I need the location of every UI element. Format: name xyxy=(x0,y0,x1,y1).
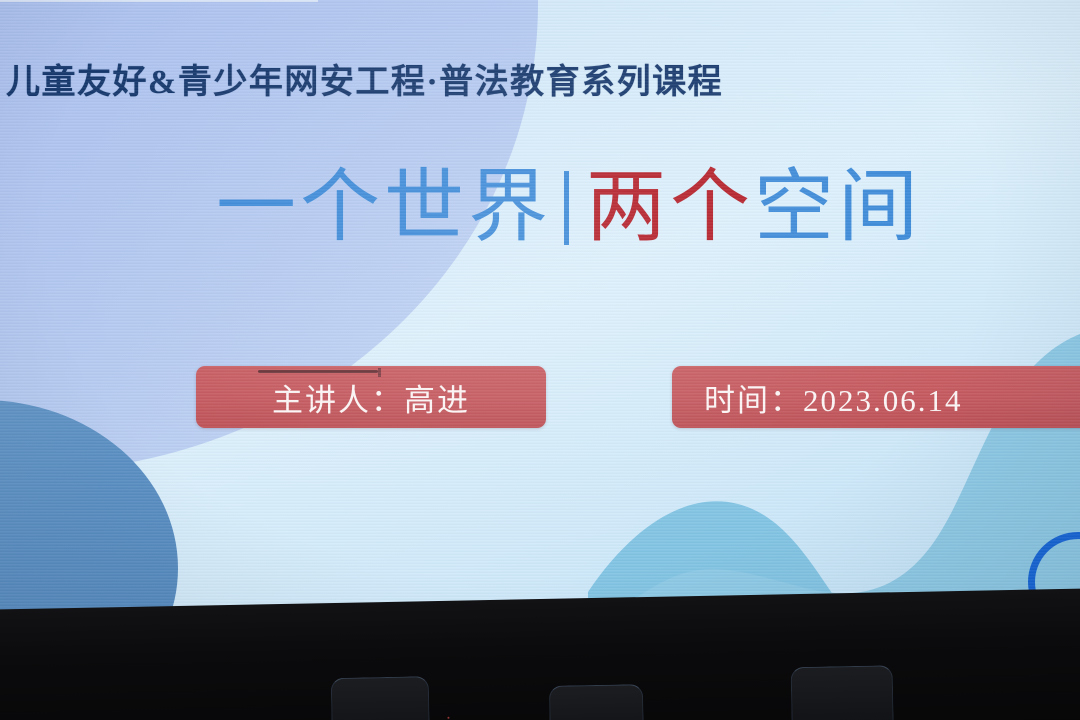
main-title-highlight: 两个 xyxy=(586,168,754,248)
speaker-badge: 主讲人：高进 xyxy=(196,366,546,428)
title-divider-bar xyxy=(564,171,569,245)
date-badge: 时间：2023.06.14 xyxy=(672,366,1080,428)
badge-streak-artifact xyxy=(258,370,378,373)
law-firm-banner: ZHEJIANG GUANGZHENGDA LAW FIRM xyxy=(0,0,318,2)
chair-silhouette-3 xyxy=(791,665,895,720)
slide-canvas: ZHEJIANG GUANGZHENGDA LAW FIRM 儿童友好&青少年网… xyxy=(0,0,1080,642)
dark-room-foreground xyxy=(0,590,1080,720)
projection-screen: ZHEJIANG GUANGZHENGDA LAW FIRM 儿童友好&青少年网… xyxy=(0,0,1080,642)
main-title: 一个世界 两个 空间 xyxy=(216,168,922,248)
course-series-subtitle: 儿童友好&青少年网安工程·普法教育系列课程 xyxy=(6,54,723,103)
badge-streak-artifact-2 xyxy=(378,368,381,377)
chair-silhouette-2 xyxy=(549,684,644,720)
photo-of-projected-slide: ZHEJIANG GUANGZHENGDA LAW FIRM 儿童友好&青少年网… xyxy=(0,0,1080,720)
main-title-tail: 空间 xyxy=(754,168,922,248)
red-light-speck xyxy=(447,717,449,719)
speaker-badge-text: 主讲人：高进 xyxy=(272,375,470,420)
room-dark-band xyxy=(0,588,1080,720)
main-title-left: 一个世界 xyxy=(216,168,552,248)
date-badge-text: 时间：2023.06.14 xyxy=(704,375,963,420)
chair-silhouette-1 xyxy=(331,676,431,720)
